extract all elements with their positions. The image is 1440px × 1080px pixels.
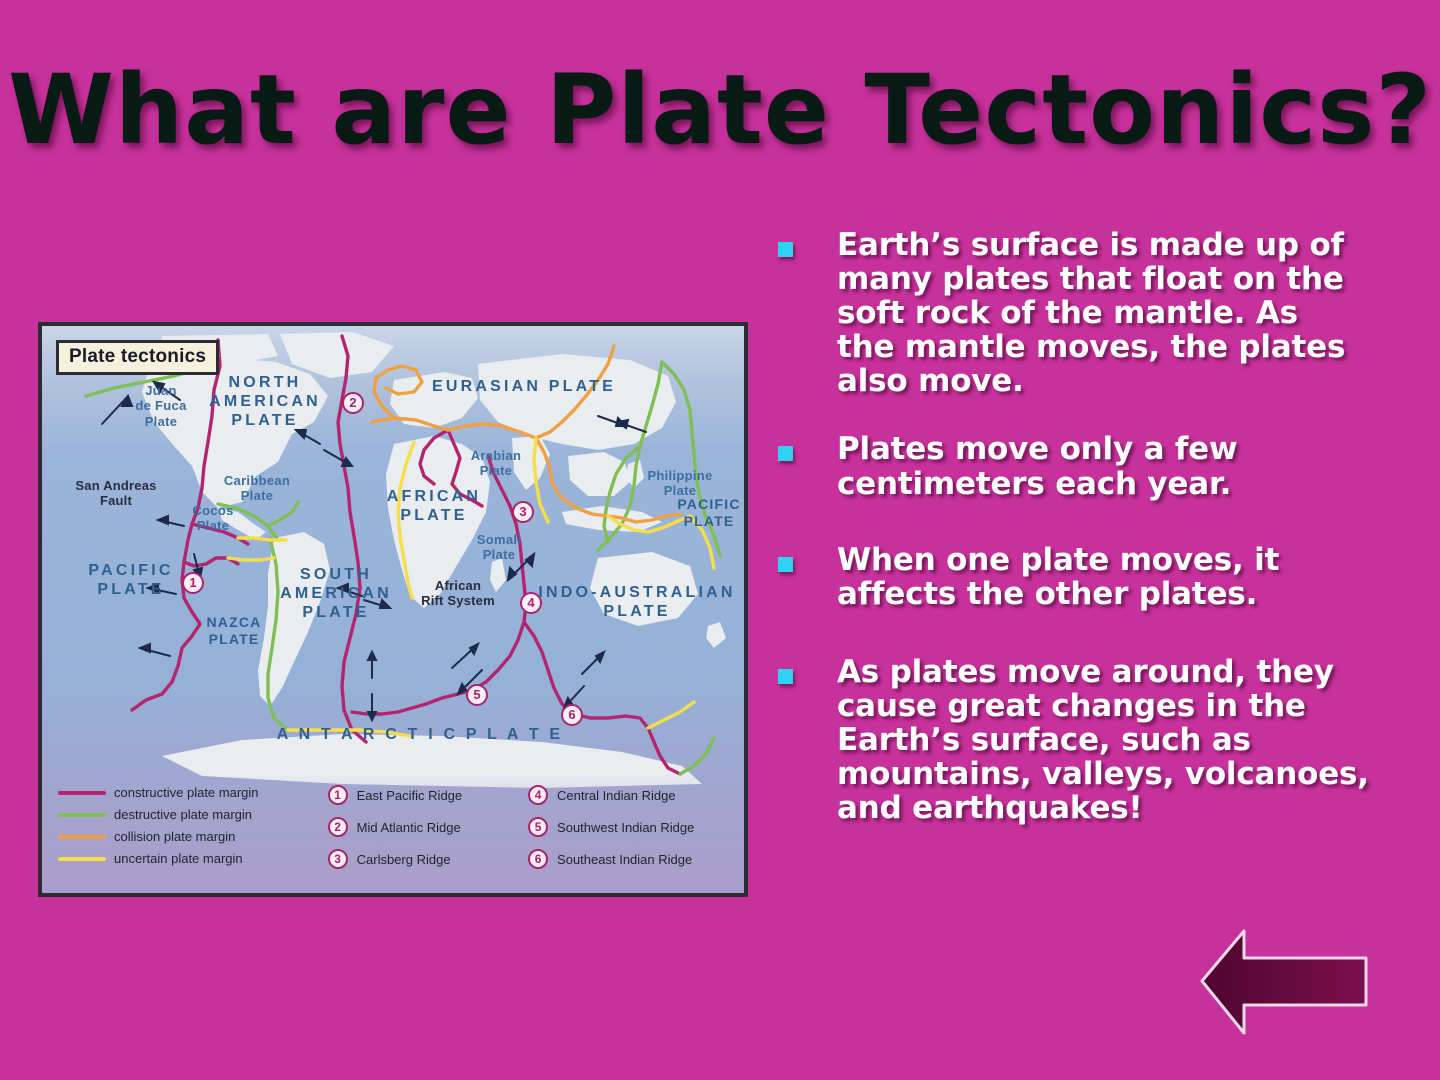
list-item: Plates move only a few centimeters each … [778,432,1388,500]
square-bullet-icon [778,557,793,572]
legend-ridge-column-left: 1East Pacific Ridge2Mid Atlantic Ridge3C… [328,783,518,887]
bullet-text: As plates move around, they cause great … [837,655,1388,825]
map-ridge-badge: 1 [182,572,204,594]
legend-ridge-column-right: 4Central Indian Ridge5Southwest Indian R… [528,783,730,887]
bullet-list: Earth’s surface is made up of many plate… [778,228,1388,859]
legend-ridge-row: 4Central Indian Ridge [528,785,730,805]
page-title: What are Plate Tectonics? [0,62,1440,158]
bullet-text: When one plate moves, it affects the oth… [837,543,1388,611]
legend-ridge-number: 4 [528,785,548,805]
map-legend: constructive plate margindestructive pla… [42,773,744,893]
square-bullet-icon [778,446,793,461]
list-item: When one plate moves, it affects the oth… [778,543,1388,611]
legend-ridge-row: 5Southwest Indian Ridge [528,817,730,837]
legend-margin-row: destructive plate margin [58,807,318,822]
list-item: Earth’s surface is made up of many plate… [778,228,1388,398]
legend-ridge-label: East Pacific Ridge [357,788,463,803]
bullet-text: Plates move only a few centimeters each … [837,432,1388,500]
legend-margin-label: collision plate margin [114,829,235,844]
legend-line-swatch [58,835,106,839]
map-ridge-badge: 6 [561,704,583,726]
legend-margin-row: constructive plate margin [58,785,318,800]
legend-ridge-label: Mid Atlantic Ridge [357,820,461,835]
legend-ridge-label: Southwest Indian Ridge [557,820,694,835]
legend-line-swatch [58,857,106,861]
legend-margin-label: destructive plate margin [114,807,252,822]
legend-line-swatch [58,791,106,795]
legend-ridge-number: 2 [328,817,348,837]
legend-ridge-number: 3 [328,849,348,869]
legend-line-swatch [58,813,106,817]
map-ridge-badge: 5 [466,684,488,706]
legend-ridge-number: 6 [528,849,548,869]
legend-ridge-number: 1 [328,785,348,805]
legend-ridge-label: Southeast Indian Ridge [557,852,692,867]
map-title-box: Plate tectonics [56,340,219,375]
plate-tectonics-map: Plate tectonics NORTH AMERICAN PLATEEURA… [38,322,748,897]
list-item: As plates move around, they cause great … [778,655,1388,825]
legend-ridge-row: 3Carlsberg Ridge [328,849,518,869]
back-arrow-icon[interactable] [1200,925,1368,1038]
map-ridge-badge: 2 [342,392,364,414]
legend-ridge-number: 5 [528,817,548,837]
legend-margin-label: uncertain plate margin [114,851,243,866]
legend-margin-row: uncertain plate margin [58,851,318,866]
square-bullet-icon [778,242,793,257]
map-ridge-badge: 4 [520,592,542,614]
legend-margin-column: constructive plate margindestructive pla… [58,783,318,887]
legend-ridge-row: 6Southeast Indian Ridge [528,849,730,869]
legend-ridge-label: Central Indian Ridge [557,788,676,803]
legend-margin-label: constructive plate margin [114,785,259,800]
legend-ridge-row: 2Mid Atlantic Ridge [328,817,518,837]
square-bullet-icon [778,669,793,684]
bullet-text: Earth’s surface is made up of many plate… [837,228,1357,398]
map-ridge-badge: 3 [512,501,534,523]
legend-margin-row: collision plate margin [58,829,318,844]
legend-ridge-label: Carlsberg Ridge [357,852,451,867]
legend-ridge-row: 1East Pacific Ridge [328,785,518,805]
